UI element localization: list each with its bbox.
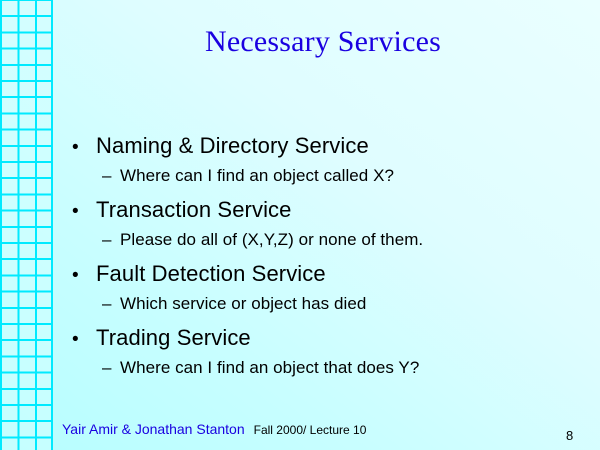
bullet-label: Naming & Directory Service — [96, 131, 369, 161]
slide-footer: Yair Amir & Jonathan Stanton Fall 2000/ … — [62, 420, 366, 439]
bullet-group-4: • Trading Service – Where can I find an … — [72, 323, 572, 381]
bullet-item: • Naming & Directory Service — [72, 131, 572, 163]
slide-title: Necessary Services — [53, 24, 593, 60]
sub-bullet-item: – Which service or object has died — [102, 291, 572, 317]
bullet-label: Transaction Service — [96, 195, 292, 225]
dash-marker-icon: – — [102, 163, 120, 189]
sub-bullet-item: – Please do all of (X,Y,Z) or none of th… — [102, 227, 572, 253]
sub-bullet-item: – Where can I find an object called X? — [102, 163, 572, 189]
bullet-group-1: • Naming & Directory Service – Where can… — [72, 131, 572, 189]
sub-bullet-label: Where can I find an object called X? — [120, 163, 394, 189]
grid-right-edge-line — [51, 0, 53, 450]
bullet-group-2: • Transaction Service – Please do all of… — [72, 195, 572, 253]
sub-bullet-label: Which service or object has died — [120, 291, 366, 317]
bullet-label: Fault Detection Service — [96, 259, 326, 289]
sub-bullet-label: Where can I find an object that does Y? — [120, 355, 419, 381]
bullet-group-3: • Fault Detection Service – Which servic… — [72, 259, 572, 317]
dash-marker-icon: – — [102, 291, 120, 317]
sub-bullet-label: Please do all of (X,Y,Z) or none of them… — [120, 227, 423, 253]
bullet-marker-icon: • — [72, 261, 96, 291]
bullet-item: • Trading Service — [72, 323, 572, 355]
footer-author: Yair Amir & Jonathan Stanton — [62, 420, 245, 438]
bullet-marker-icon: • — [72, 197, 96, 227]
footer-lecture-info: Fall 2000/ Lecture 10 — [254, 421, 367, 439]
bullet-marker-icon: • — [72, 325, 96, 355]
left-grid-decoration — [0, 0, 53, 450]
bullet-item: • Fault Detection Service — [72, 259, 572, 291]
presentation-slide: Necessary Services • Naming & Directory … — [0, 0, 600, 450]
dash-marker-icon: – — [102, 227, 120, 253]
sub-bullet-item: – Where can I find an object that does Y… — [102, 355, 572, 381]
slide-body: • Naming & Directory Service – Where can… — [72, 131, 572, 381]
bullet-item: • Transaction Service — [72, 195, 572, 227]
bullet-marker-icon: • — [72, 133, 96, 163]
dash-marker-icon: – — [102, 355, 120, 381]
slide-number: 8 — [566, 428, 573, 444]
bullet-label: Trading Service — [96, 323, 251, 353]
